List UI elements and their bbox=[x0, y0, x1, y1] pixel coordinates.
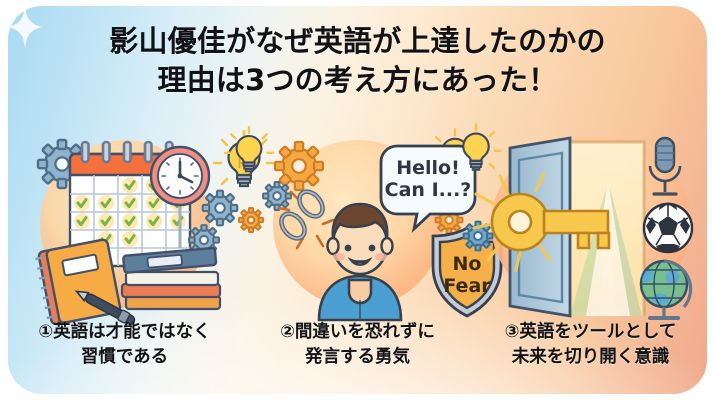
panel-courage-art: Hello! Can I...? No Fear bbox=[241, 128, 479, 320]
caption-future: ③英語をツールとして 未来を切り開く意識 bbox=[474, 320, 707, 394]
globe-icon bbox=[641, 261, 691, 318]
caption-row: ①英語は才能ではなく 習慣である ②間違いを恐れずに 発言する勇気 ③英語をツー… bbox=[8, 320, 707, 394]
panel-future bbox=[474, 128, 707, 320]
books-icon bbox=[122, 248, 220, 309]
page-title: 影山優佳がなぜ英語が上達したのかの 理由は3つの考え方にあった！ bbox=[8, 22, 707, 99]
microphone-icon bbox=[650, 138, 680, 194]
infographic-card: 影山優佳がなぜ英語が上達したのかの 理由は3つの考え方にあった！ bbox=[8, 6, 707, 394]
panel-habit-art bbox=[8, 128, 246, 320]
speech-bubble-line1: Hello! bbox=[396, 157, 460, 179]
sparkle-icon bbox=[8, 6, 42, 48]
panel-courage: Hello! Can I...? No Fear bbox=[241, 128, 474, 320]
speech-bubble-icon: Hello! Can I...? bbox=[381, 146, 475, 229]
caption-habit: ①英語は才能ではなく 習慣である bbox=[8, 320, 241, 394]
panel-habit bbox=[8, 128, 241, 320]
panel-future-art bbox=[474, 128, 707, 320]
caption-courage: ②間違いを恐れずに 発言する勇気 bbox=[241, 320, 474, 394]
illustration-row: Hello! Can I...? No Fear bbox=[8, 128, 707, 320]
speech-bubble-line2: Can I...? bbox=[385, 179, 472, 201]
soccer-ball-icon bbox=[644, 203, 692, 252]
